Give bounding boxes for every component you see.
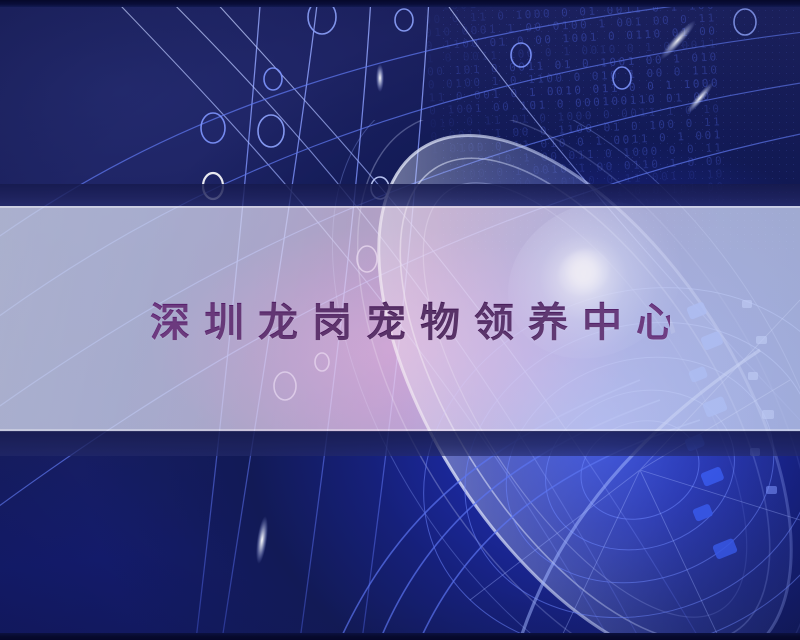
top-edge-stripe — [0, 0, 800, 7]
light-panel-top-highlight — [0, 206, 800, 208]
banner-title: 深圳龙岗宠物领养中心 — [150, 288, 670, 350]
bottom-edge-stripe — [0, 633, 800, 640]
banner-canvas: 0 1001 00 101 0 000100110 01 0000 0 11 0… — [0, 0, 800, 640]
upper-dark-navy-band — [0, 184, 800, 207]
lower-dark-navy-band — [0, 431, 800, 456]
